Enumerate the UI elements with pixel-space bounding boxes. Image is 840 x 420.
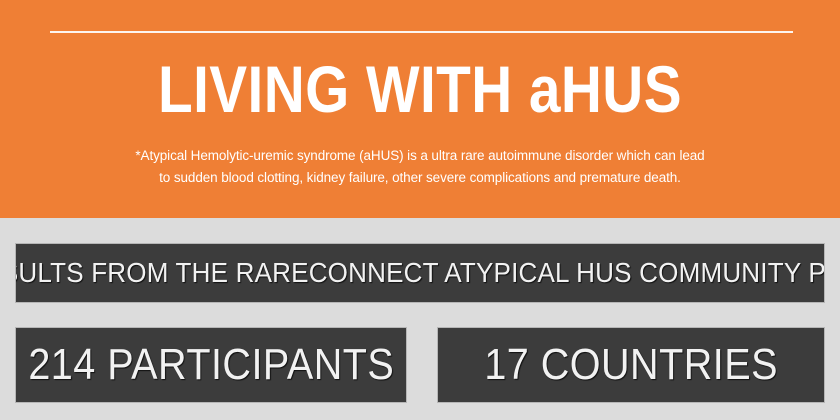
stat-countries-label: 17 COUNTRIES bbox=[484, 340, 778, 390]
header-divider-rule bbox=[50, 31, 793, 33]
stat-card-participants: 214 PARTICIPANTS bbox=[15, 327, 407, 403]
results-banner-label: RESULTS FROM THE RARECONNECT ATYPICAL HU… bbox=[15, 257, 825, 289]
stat-participants-label: 214 PARTICIPANTS bbox=[28, 340, 394, 390]
results-banner: RESULTS FROM THE RARECONNECT ATYPICAL HU… bbox=[15, 243, 825, 303]
stat-card-countries: 17 COUNTRIES bbox=[437, 327, 825, 403]
page-title: LIVING WITH aHUS bbox=[59, 53, 781, 125]
header-section: LIVING WITH aHUS *Atypical Hemolytic-ure… bbox=[0, 0, 840, 218]
subtitle-text: *Atypical Hemolytic-uremic syndrome (aHU… bbox=[60, 145, 780, 189]
subtitle-line-2: to sudden blood clotting, kidney failure… bbox=[60, 167, 780, 189]
infographic-root: LIVING WITH aHUS *Atypical Hemolytic-ure… bbox=[0, 0, 840, 420]
subtitle-line-1: *Atypical Hemolytic-uremic syndrome (aHU… bbox=[60, 145, 780, 167]
